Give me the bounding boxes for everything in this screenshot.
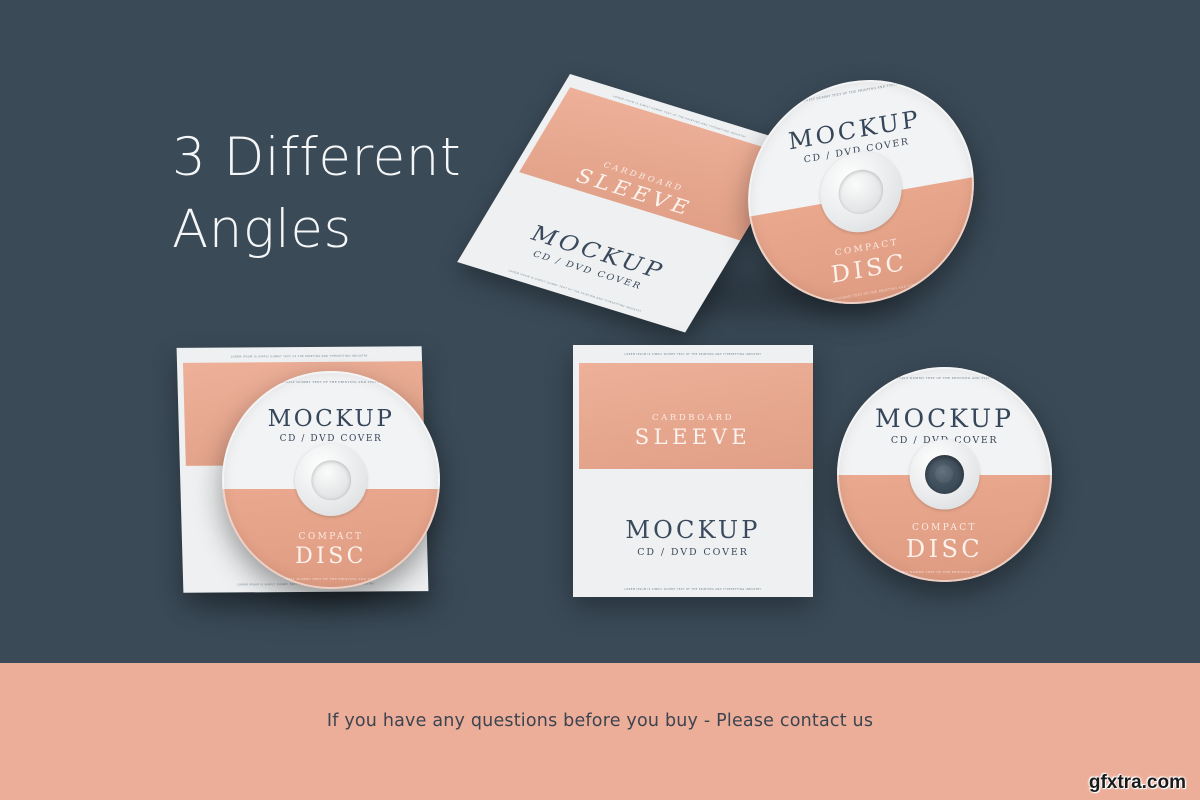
sleeve-microtext-bottom: LOREM IPSUM IS SIMPLY DUMMY TEXT OF THE … [587,588,798,591]
disc-kicker: COMPACT [222,532,440,542]
disc-title-group: MOCKUP CD / DVD COVER [222,406,440,444]
disc-microtext-bottom: LOREM IPSUM IS SIMPLY DUMMY TEXT OF THE … [239,577,422,581]
composition-top-right[interactable]: LOREM IPSUM IS SIMPLY DUMMY TEXT OF THE … [570,60,1040,320]
watermark-label: gfxtra.com [1089,772,1186,794]
sleeve-cover-heading-group: MOCKUP CD / DVD COVER [573,516,813,558]
cardboard-sleeve-perspective[interactable]: LOREM IPSUM IS SIMPLY DUMMY TEXT OF THE … [457,74,798,333]
disc-center-hole [311,460,351,500]
disc-subtitle: CD / DVD COVER [222,434,440,444]
disc-bottom-title: DISC [222,544,440,569]
disc-center-hole [925,455,964,494]
disc-bottom-group: COMPACT DISC [837,523,1052,563]
compact-disc-leaning[interactable]: LOREM IPSUM IS SIMPLY DUMMY TEXT OF THE … [222,371,440,589]
sleeve-title: SLEEVE [573,425,813,449]
disc-microtext-top: LOREM IPSUM IS SIMPLY DUMMY TEXT OF THE … [854,376,1035,380]
disc-bottom-group: COMPACT DISC [222,532,440,569]
footer-message: If you have any questions before you buy… [0,711,1200,731]
disc-kicker: COMPACT [837,523,1052,533]
disc-center-hole [836,166,885,217]
disc-bottom-title: DISC [837,535,1052,563]
footer-banner: If you have any questions before you buy… [0,663,1200,800]
sleeve-microtext-top: LOREM IPSUM IS SIMPLY DUMMY TEXT OF THE … [587,353,798,356]
compact-disc-perspective[interactable]: LOREM IPSUM IS SIMPLY DUMMY TEXT OF THE … [737,62,985,322]
sleeve-heading-group: CARDBOARD SLEEVE [573,413,813,449]
disc-microtext-bottom: LOREM IPSUM IS SIMPLY DUMMY TEXT OF THE … [854,570,1035,574]
disc-title: MOCKUP [837,404,1052,433]
sleeve-kicker: CARDBOARD [573,413,813,423]
compact-disc-front[interactable]: LOREM IPSUM IS SIMPLY DUMMY TEXT OF THE … [837,367,1052,582]
cardboard-sleeve-front[interactable]: LOREM IPSUM IS SIMPLY DUMMY TEXT OF THE … [573,345,813,597]
page-title: 3 Different Angles [172,122,461,265]
disc-microtext-top: LOREM IPSUM IS SIMPLY DUMMY TEXT OF THE … [239,380,422,384]
disc-hub [295,444,367,516]
disc-hub [909,439,980,510]
disc-title: MOCKUP [222,406,440,432]
sleeve-cover-title: MOCKUP [573,516,813,544]
sleeve-cover-subtitle: CD / DVD COVER [573,547,813,558]
preview-canvas: 3 Different Angles LOREM IPSUM IS SIMPLY… [0,0,1200,800]
sleeve-microtext-top: LOREM IPSUM IS SIMPLY DUMMY TEXT OF THE … [191,354,407,359]
